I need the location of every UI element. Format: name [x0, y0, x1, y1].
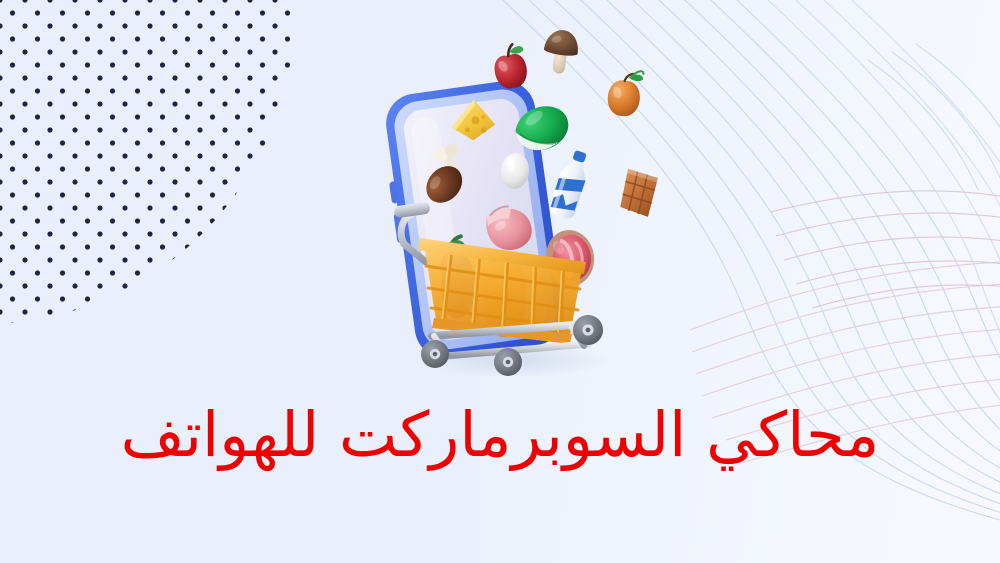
- background-right-wash: [480, 0, 1000, 563]
- page-title: محاكي السوبرماركت للهواتف: [0, 402, 1000, 469]
- banner-canvas: محاكي السوبرماركت للهواتف: [0, 0, 1000, 563]
